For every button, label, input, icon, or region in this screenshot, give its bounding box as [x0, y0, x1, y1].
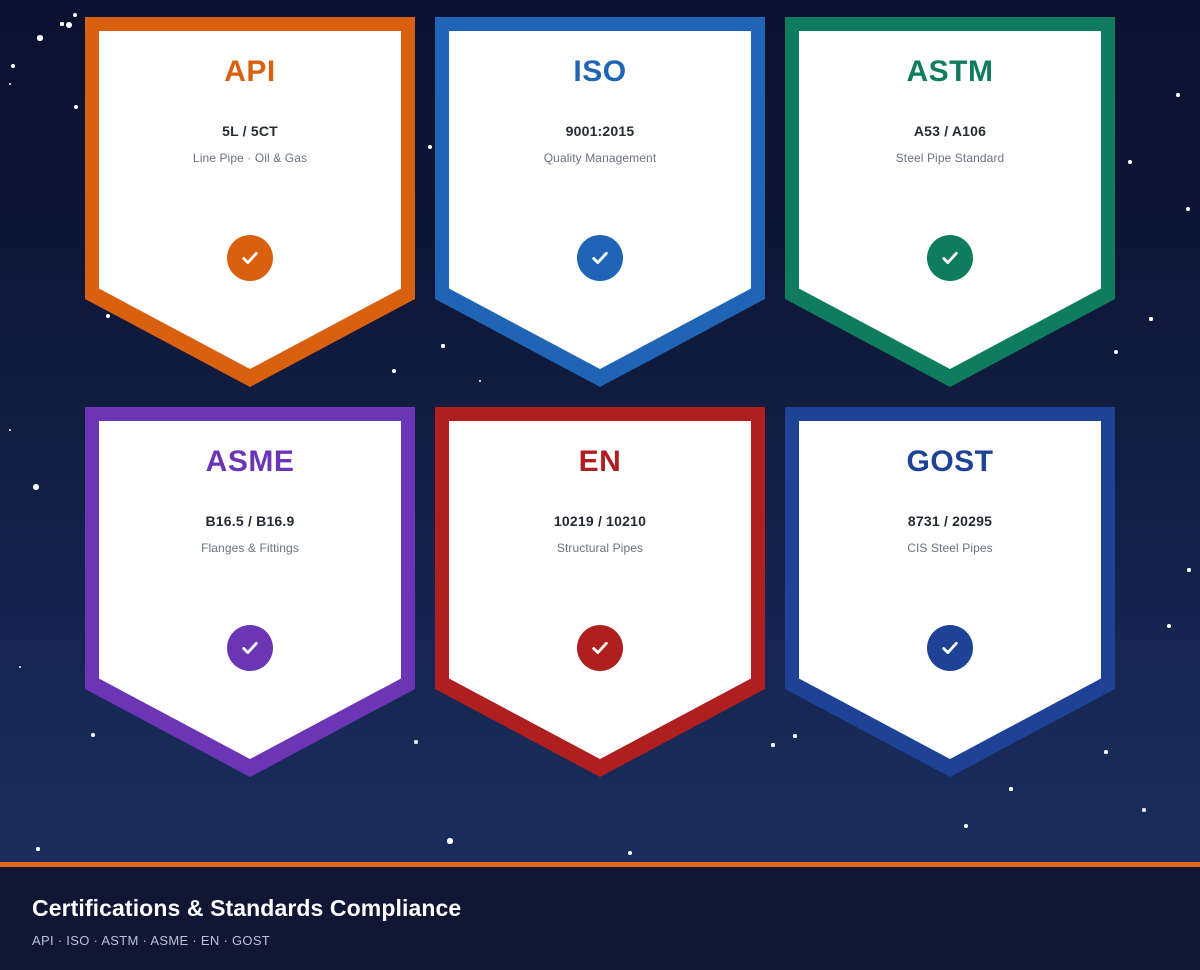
certification-badge-astm[interactable]: ASTMA53 / A106Steel Pipe Standard [785, 17, 1115, 387]
badge-content: ISO9001:2015Quality Management [449, 31, 751, 369]
check-icon [927, 625, 973, 671]
footer-standards-list: API · ISO · ASTM · ASME · EN · GOST [32, 933, 1200, 948]
badge-standard-number: 9001:2015 [566, 123, 635, 139]
check-icon [577, 625, 623, 671]
certification-badge-api[interactable]: API5L / 5CTLine Pipe · Oil & Gas [85, 17, 415, 387]
badge-description: Line Pipe · Oil & Gas [193, 151, 307, 165]
badge-description: Steel Pipe Standard [896, 151, 1005, 165]
footer-inner: Certifications & Standards Compliance AP… [0, 867, 1200, 948]
check-icon [227, 235, 273, 281]
badge-standard-number: 8731 / 20295 [908, 513, 992, 529]
certification-badge-gost[interactable]: GOST8731 / 20295CIS Steel Pipes [785, 407, 1115, 777]
certifications-panel: API5L / 5CTLine Pipe · Oil & GasISO9001:… [0, 0, 1200, 970]
badge-content: ASMEB16.5 / B16.9Flanges & Fittings [99, 421, 401, 759]
badge-standard-number: 5L / 5CT [222, 123, 278, 139]
badge-code: ISO [573, 57, 626, 87]
badge-content: EN10219 / 10210Structural Pipes [449, 421, 751, 759]
badge-description: CIS Steel Pipes [907, 541, 993, 555]
certification-badge-asme[interactable]: ASMEB16.5 / B16.9Flanges & Fittings [85, 407, 415, 777]
badge-content: API5L / 5CTLine Pipe · Oil & Gas [99, 31, 401, 369]
badge-code: ASME [206, 447, 295, 477]
badge-grid: API5L / 5CTLine Pipe · Oil & GasISO9001:… [0, 0, 1200, 860]
badge-description: Quality Management [544, 151, 657, 165]
check-icon [577, 235, 623, 281]
certification-badge-en[interactable]: EN10219 / 10210Structural Pipes [435, 407, 765, 777]
badge-standard-number: B16.5 / B16.9 [206, 513, 295, 529]
badge-description: Structural Pipes [557, 541, 643, 555]
badge-code: GOST [906, 447, 993, 477]
badge-code: API [224, 57, 276, 87]
badge-content: GOST8731 / 20295CIS Steel Pipes [799, 421, 1101, 759]
badge-code: ASTM [907, 57, 994, 87]
badge-content: ASTMA53 / A106Steel Pipe Standard [799, 31, 1101, 369]
badge-standard-number: A53 / A106 [914, 123, 986, 139]
footer-bar: Certifications & Standards Compliance AP… [0, 862, 1200, 970]
badge-description: Flanges & Fittings [201, 541, 299, 555]
check-icon [227, 625, 273, 671]
certification-badge-iso[interactable]: ISO9001:2015Quality Management [435, 17, 765, 387]
page-title: Certifications & Standards Compliance [32, 895, 1200, 922]
badge-code: EN [579, 447, 622, 477]
check-icon [927, 235, 973, 281]
badge-standard-number: 10219 / 10210 [554, 513, 646, 529]
